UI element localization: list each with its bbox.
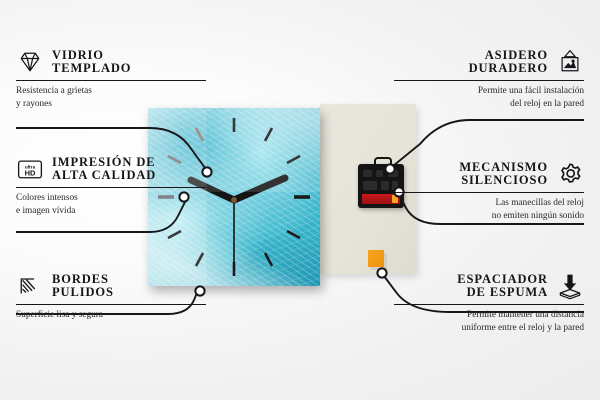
foam-spacer: [368, 250, 384, 267]
feature-subtitle: Las manecillas del reloj no emiten ningú…: [394, 197, 584, 222]
gear-icon: [556, 160, 584, 188]
ultra-hd-icon: ultra HD: [16, 155, 44, 183]
feature-title-line2: ALTA CALIDAD: [52, 169, 156, 183]
feature-divider: [16, 304, 206, 305]
infographic-canvas: VIDRIO TEMPLADO Resistencia a grietas y …: [0, 0, 600, 400]
feature-header: VIDRIO TEMPLADO: [16, 48, 206, 76]
feature-titles: ESPACIADOR DE ESPUMA: [457, 273, 548, 300]
feature-title-line2: SILENCIOSO: [459, 174, 548, 188]
feature-divider: [394, 80, 584, 81]
feature-subtitle: Permite una fácil instalación del reloj …: [394, 85, 584, 110]
feature-title-line1: ASIDERO: [469, 49, 548, 63]
feature-title-line1: ESPACIADOR: [457, 273, 548, 287]
hanging-frame-icon: [556, 48, 584, 76]
feature-titles: MECANISMO SILENCIOSO: [459, 161, 548, 188]
mechanism-detail: [376, 170, 383, 177]
polished-edges-icon: [16, 272, 44, 300]
feature-subtitle: Colores intensos e imagen vívida: [16, 192, 206, 217]
arrow-onto-pad-icon: [556, 272, 584, 300]
feature-titles: VIDRIO TEMPLADO: [52, 49, 131, 76]
feature-title-line1: MECANISMO: [459, 161, 548, 175]
feature-divider: [16, 187, 206, 188]
feature-titles: BORDES PULIDOS: [52, 273, 114, 300]
feature-title-line2: PULIDOS: [52, 286, 114, 300]
diamond-icon: [16, 48, 44, 76]
feature-header: ultra HD IMPRESIÓN DE ALTA CALIDAD: [16, 155, 206, 183]
feature-subtitle: Superficie lisa y segura: [16, 309, 206, 322]
feature-subtitle: Permite mantener una distancia uniforme …: [394, 309, 584, 334]
feature-header: MECANISMO SILENCIOSO: [394, 160, 584, 188]
feature-bordes-pulidos[interactable]: BORDES PULIDOS Superficie lisa y segura: [16, 272, 206, 322]
feature-title-line2: TEMPLADO: [52, 62, 131, 76]
feature-titles: IMPRESIÓN DE ALTA CALIDAD: [52, 156, 156, 183]
feature-title-line1: BORDES: [52, 273, 114, 287]
feature-title-line1: VIDRIO: [52, 49, 131, 63]
feature-asidero-duradero[interactable]: ASIDERO DURADERO Permite una fácil insta…: [394, 48, 584, 110]
svg-text:HD: HD: [25, 168, 36, 177]
feature-espaciador-de-espuma[interactable]: ESPACIADOR DE ESPUMA Permite mantener un…: [394, 272, 584, 334]
feature-titles: ASIDERO DURADERO: [469, 49, 548, 76]
feature-vidrio-templado[interactable]: VIDRIO TEMPLADO Resistencia a grietas y …: [16, 48, 206, 110]
feature-title-line2: DURADERO: [469, 62, 548, 76]
mechanism-hook: [374, 157, 392, 168]
mechanism-detail: [363, 170, 372, 177]
feature-divider: [394, 304, 584, 305]
feature-subtitle: Resistencia a grietas y rayones: [16, 85, 206, 110]
feature-divider: [394, 192, 584, 193]
feature-mecanismo-silencioso[interactable]: MECANISMO SILENCIOSO Las manecillas del …: [394, 160, 584, 222]
feature-impresion-alta-calidad[interactable]: ultra HD IMPRESIÓN DE ALTA CALIDAD Color…: [16, 155, 206, 217]
feature-header: BORDES PULIDOS: [16, 272, 206, 300]
feature-title-line1: IMPRESIÓN DE: [52, 156, 156, 170]
feature-title-line2: DE ESPUMA: [457, 286, 548, 300]
mechanism-detail: [381, 181, 389, 190]
feature-divider: [16, 80, 206, 81]
feature-header: ASIDERO DURADERO: [394, 48, 584, 76]
feature-header: ESPACIADOR DE ESPUMA: [394, 272, 584, 300]
mechanism-detail: [363, 181, 377, 190]
